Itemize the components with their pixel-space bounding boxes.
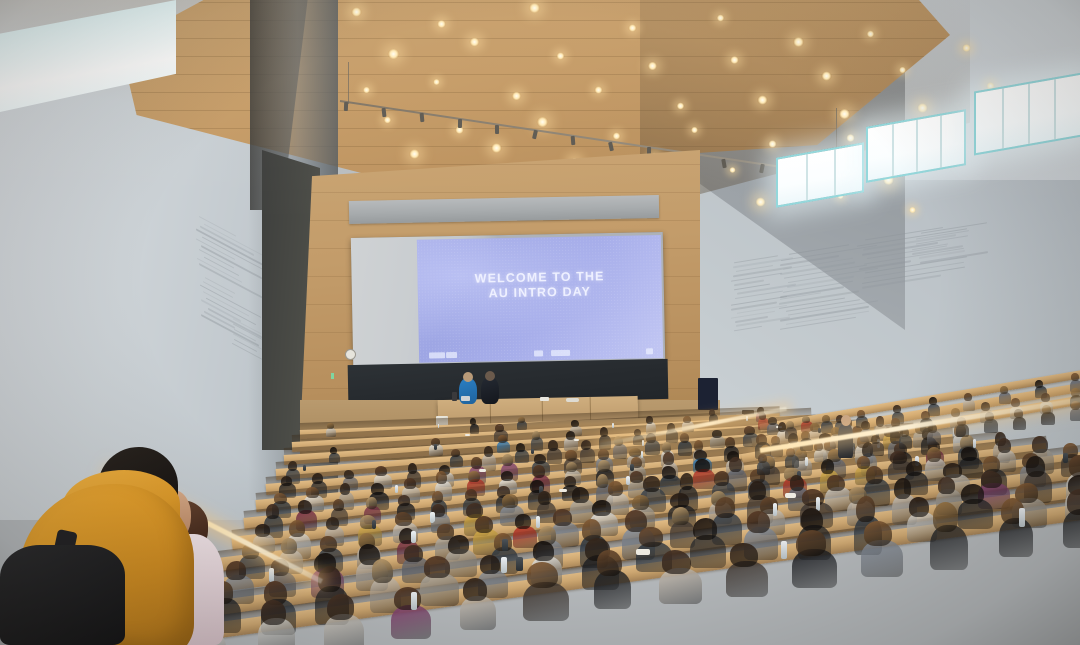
logo-left-icon: [429, 352, 445, 358]
ceiling-downlight: [491, 143, 502, 153]
water-bottle: [626, 476, 629, 485]
audience-member-head: [298, 500, 312, 514]
audience-member-head: [597, 550, 622, 576]
audience-member-head: [572, 487, 589, 503]
window-mullion: [1054, 79, 1056, 139]
ceiling-downlight: [757, 95, 767, 104]
audience-member-body: [814, 449, 828, 463]
ceiling-downlight: [768, 140, 777, 148]
ceiling-downlight: [351, 7, 361, 16]
water-bottle: [536, 516, 540, 528]
ceiling-downlight: [648, 62, 657, 70]
ceiling-downlight: [433, 79, 440, 85]
audience-member-head: [516, 443, 525, 452]
audience-member-head: [261, 600, 286, 625]
presenter-dark-head: [485, 371, 495, 381]
ceiling-downlight: [729, 167, 736, 173]
audience-member-head: [484, 446, 493, 457]
audience-member-head: [394, 587, 421, 610]
audience-member-head: [749, 481, 766, 500]
audience-member-body: [757, 461, 771, 475]
audience-member-head: [961, 447, 977, 461]
audience-member-head: [597, 474, 608, 488]
ceiling-downlight: [677, 103, 685, 110]
thermos-bottle: [1063, 453, 1068, 463]
audience-member-head: [768, 417, 777, 425]
audience-member-head: [714, 471, 729, 486]
laptop-on-desk: [452, 392, 457, 401]
audience-member-head: [927, 447, 941, 462]
window-mullion: [940, 115, 942, 167]
audience-member-head: [371, 483, 384, 495]
audience-member-head: [712, 430, 722, 438]
paper-on-bench: [465, 434, 470, 436]
audience-member-head: [553, 509, 572, 526]
lecture-hall-photo: WELCOME TO THE AU INTRO DAY: [0, 0, 1080, 645]
audience-member-body: [470, 424, 479, 435]
audience-member-body: [785, 455, 799, 469]
ceiling-downlight: [388, 49, 400, 59]
audience-member-head: [964, 393, 972, 401]
ceiling-downlight: [613, 132, 621, 139]
thermos-bottle: [630, 464, 634, 471]
ceiling-downlight: [821, 71, 831, 80]
rail-drop-wire: [348, 62, 349, 104]
audience-member-head: [876, 416, 884, 427]
audience-member-head: [408, 463, 417, 474]
ceiling-downlight: [537, 117, 549, 127]
audience-member-head: [906, 461, 922, 476]
items-on-desk: [566, 398, 579, 402]
ceiling-downlight: [628, 24, 636, 31]
audience-member-head: [538, 491, 551, 505]
ceiling-downlight: [437, 20, 446, 28]
audience-member-head: [598, 449, 609, 460]
ceiling-downlight: [470, 38, 480, 47]
audience-member-head: [289, 520, 305, 537]
standing-person-head: [841, 415, 851, 426]
audience-member-head: [943, 463, 962, 478]
audience-member-head: [857, 410, 865, 418]
audience-member-head: [938, 477, 955, 494]
audience-member-body: [1013, 417, 1027, 431]
track-light-head: [571, 136, 576, 145]
audience-member-head: [502, 454, 513, 466]
audience-member-head: [730, 543, 758, 567]
wood-grain-line: [300, 192, 700, 193]
audience-member-head: [281, 538, 297, 554]
track-light-head: [457, 119, 461, 128]
audience-member-head: [894, 478, 911, 499]
audience-member-head: [395, 512, 412, 526]
audience-member-head: [465, 489, 477, 501]
audience-member-body: [963, 399, 975, 411]
audience-member-body: [927, 431, 941, 445]
audience-member-head: [630, 471, 643, 483]
audience-member-head: [501, 471, 513, 481]
window-mullion: [1002, 88, 1004, 148]
audience-member-head: [771, 436, 780, 445]
ceiling-downlight: [384, 117, 392, 124]
audience-member-head: [670, 493, 689, 508]
audience-member-head: [744, 426, 755, 435]
paper-on-bench: [479, 469, 485, 472]
audience-member-head: [786, 448, 795, 457]
water-bottle: [781, 541, 788, 559]
audience-member-head: [646, 416, 653, 424]
audience-member-head: [998, 438, 1011, 453]
audience-member-body: [326, 428, 337, 437]
ceiling-downlight: [846, 134, 855, 142]
audience-member-head: [693, 518, 717, 540]
wall-clock-icon: [345, 349, 356, 360]
ceiling-downlight: [839, 109, 850, 119]
water-bottle: [1019, 508, 1026, 526]
audience-member-head: [1041, 393, 1050, 402]
audience-member-head: [608, 481, 623, 496]
audience-member-head: [893, 405, 901, 413]
audience-member-head: [856, 496, 875, 522]
audience-member-head: [827, 475, 845, 491]
audience-member-head: [398, 495, 410, 506]
audience-member-head: [1032, 436, 1048, 453]
audience-member-head: [404, 545, 423, 562]
window-mullion: [806, 154, 808, 200]
audience-member-head: [801, 508, 823, 531]
window-mullion: [1028, 84, 1030, 144]
audience-member-head: [451, 449, 460, 457]
thermos-bottle: [303, 465, 306, 471]
audience-member-head: [861, 421, 870, 430]
ceiling-downlight: [691, 127, 698, 133]
audience-member-head: [709, 409, 715, 416]
paper-on-desk: [461, 396, 470, 401]
thermos-bottle: [502, 539, 508, 551]
audience-member-head: [695, 459, 710, 472]
audience-member-head: [288, 461, 297, 471]
black-backpack: [0, 545, 125, 645]
audience-member-head: [515, 514, 531, 529]
audience-member-head: [600, 427, 608, 437]
standing-person-body: [838, 424, 853, 458]
audience-member-head: [662, 550, 691, 574]
audience-member-head: [344, 470, 354, 479]
audience-member-head: [534, 454, 546, 464]
audience-member-head: [571, 420, 579, 427]
audience-member-head: [933, 502, 958, 532]
projection-screen: WELCOME TO THE AU INTRO DAY: [351, 232, 665, 366]
audience-member-head: [921, 411, 930, 420]
water-bottle: [642, 440, 644, 446]
audience-member-head: [480, 555, 500, 574]
audience-member-head: [327, 594, 354, 620]
audience-member-head: [866, 466, 883, 484]
logo-center-2-icon: [551, 350, 570, 356]
audience-member-head: [951, 408, 960, 417]
audience-member-head: [680, 473, 693, 490]
ceiling-downlight: [409, 149, 420, 158]
audience-member-head: [1069, 455, 1080, 477]
audience-member-body: [870, 442, 884, 456]
presenter-blue-head: [463, 372, 473, 382]
audience-member-head: [796, 530, 826, 556]
exit-light-icon: [331, 373, 334, 379]
audience-member-head: [598, 460, 610, 472]
audience-member-head: [981, 402, 990, 411]
audience-member-head: [475, 516, 493, 533]
audience-member-head: [1035, 380, 1043, 388]
track-light-head: [495, 125, 499, 134]
audience-member-head: [864, 521, 892, 546]
audience-member-head: [312, 473, 323, 484]
audience-member-head: [1071, 373, 1079, 381]
audience-member-body: [450, 455, 464, 467]
water-bottle: [612, 423, 614, 428]
audience-member-head: [366, 497, 377, 509]
window-mullion: [916, 120, 918, 172]
audience-member-head: [672, 507, 689, 525]
paper-on-bench: [785, 493, 795, 497]
audience-member-head: [961, 484, 984, 504]
ceiling-downlight: [556, 52, 564, 59]
paper-on-bench: [636, 549, 650, 555]
audience-member-head: [786, 421, 794, 429]
audience-member-head: [802, 489, 824, 506]
slide-title: WELCOME TO THE AU INTRO DAY: [417, 268, 662, 302]
audience-member-head: [436, 471, 447, 484]
ceiling-downlight: [755, 197, 765, 206]
audience-member-head: [320, 536, 337, 552]
ceiling-downlight: [867, 31, 875, 38]
audience-member-head: [566, 462, 577, 472]
water-bottle: [641, 451, 644, 458]
window-mullion: [834, 149, 836, 195]
water-bottle: [411, 592, 418, 610]
water-bottle: [431, 512, 435, 522]
audience-member-body: [785, 427, 797, 439]
equipment-case: [698, 378, 718, 410]
audience-member-head: [662, 466, 676, 479]
ceiling-downlight: [529, 3, 540, 13]
audience-member-head: [662, 442, 671, 453]
thermos-bottle: [372, 520, 377, 529]
audience-member-body: [984, 419, 998, 433]
ceiling-downlight: [962, 44, 971, 52]
paper-on-bench: [559, 489, 567, 492]
audience-member-head: [802, 416, 810, 423]
audience-member-head: [340, 483, 350, 495]
water-bottle: [411, 531, 415, 543]
audience-member-head: [306, 487, 319, 498]
ceiling-downlight: [717, 15, 725, 22]
audience-member-head: [565, 450, 577, 461]
audience-member-head: [327, 423, 334, 429]
logo-center-icon: [534, 350, 543, 356]
audience-member-head: [502, 494, 518, 508]
audience-member-body: [1070, 408, 1080, 422]
audience-member-head: [1026, 456, 1045, 477]
audience-member-body: [899, 435, 913, 449]
audience-member-head: [909, 497, 929, 517]
audience-member-head: [629, 448, 641, 457]
audience-member-head: [333, 499, 344, 511]
audience-member-head: [495, 424, 504, 432]
thermos-bottle: [516, 557, 523, 571]
audience-member-head: [715, 497, 735, 518]
audience-member-head: [448, 535, 469, 554]
water-bottle: [805, 457, 808, 466]
audience-member-head: [274, 493, 287, 504]
audience-member-body: [999, 392, 1011, 404]
audience-member-head: [663, 452, 674, 465]
audience-member-head: [981, 471, 1002, 488]
audience-member-head: [375, 466, 387, 476]
audience-member-head: [581, 440, 591, 450]
audience-member-head: [226, 561, 246, 580]
paper-stack: [540, 397, 549, 401]
audience-member-head: [432, 491, 443, 503]
audience-member-head: [729, 457, 742, 472]
rail-drop-wire: [836, 108, 837, 148]
audience-member-head: [527, 562, 558, 588]
water-bottle: [773, 503, 778, 517]
audience-member-head: [266, 504, 279, 519]
audience-member-head: [890, 451, 907, 464]
audience-member-head: [498, 435, 507, 443]
ceiling-downlight: [363, 87, 370, 93]
audience-member-body: [329, 453, 340, 464]
ceiling-downlight: [594, 86, 602, 93]
audience-member-head: [532, 431, 540, 440]
audience-member-head: [643, 476, 660, 492]
ceiling-downlight: [793, 37, 804, 47]
audience-member-head: [639, 527, 663, 547]
presentation-slide: WELCOME TO THE AU INTRO DAY: [417, 235, 663, 363]
water-bottle: [501, 557, 507, 573]
audience-member-head: [758, 454, 767, 463]
audience-member-head: [468, 471, 480, 482]
audience-member-head: [533, 541, 554, 561]
audience-member-body: [956, 424, 970, 438]
paper-on-bench: [574, 439, 579, 441]
logo-right-icon: [646, 348, 653, 354]
audience-member-head: [790, 475, 804, 491]
ceiling-downlight: [899, 67, 906, 73]
ceiling-downlight: [917, 103, 928, 113]
ceiling-downlight: [730, 56, 739, 64]
audience-member-head: [424, 556, 450, 578]
audience-member-head: [548, 440, 558, 451]
ceiling-downlight: [909, 207, 916, 213]
audience-member-body: [1041, 412, 1055, 426]
audience-member-head: [801, 431, 810, 440]
audience-member-head: [533, 465, 545, 478]
audience-member-head: [756, 434, 767, 445]
audience-member-head: [1000, 386, 1008, 394]
audience-member-head: [822, 415, 830, 423]
audience-member-head: [326, 517, 339, 530]
track-light-head: [419, 113, 424, 122]
audience-member-head: [471, 457, 482, 469]
audience-member-head: [255, 524, 270, 537]
water-bottle: [395, 485, 398, 493]
audience-member-head: [871, 435, 880, 444]
water-bottle: [269, 568, 274, 582]
audience-member-head: [929, 397, 937, 405]
track-light-head: [381, 107, 386, 116]
audience-member-head: [518, 417, 525, 423]
thermos-bottle: [434, 444, 437, 449]
audience-member-head: [1071, 388, 1080, 397]
ceiling-downlight: [512, 92, 521, 100]
thermos-bottle: [531, 449, 534, 455]
audience-member-head: [564, 476, 576, 487]
logo-left-2-icon: [446, 352, 457, 358]
audience-member-head: [683, 416, 691, 423]
audience-member-head: [566, 431, 575, 440]
audience-member-head: [632, 495, 649, 510]
audience-member-head: [725, 437, 735, 448]
audience-member-head: [463, 578, 487, 601]
window-mullion: [892, 124, 894, 176]
audience-member-head: [404, 478, 416, 489]
audience-member-head: [281, 476, 292, 486]
presenter-seated-dark: [481, 377, 499, 404]
audience-member-head: [680, 433, 689, 443]
audience-member-head: [747, 511, 770, 533]
audience-member-head: [592, 500, 611, 516]
